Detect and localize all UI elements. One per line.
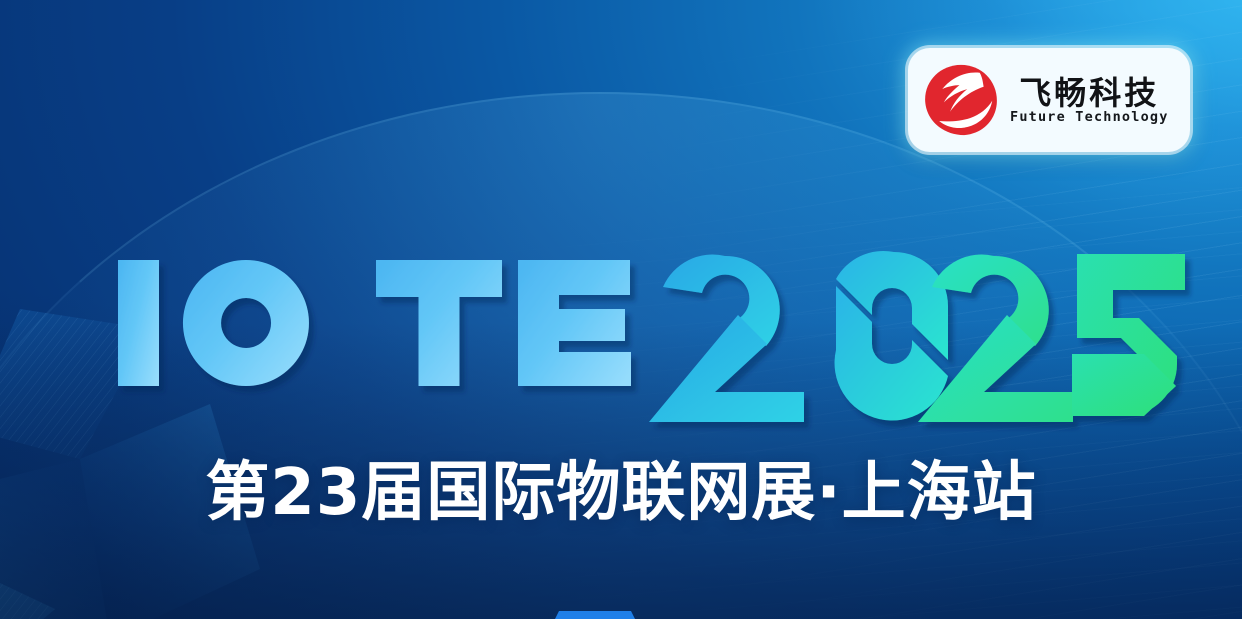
digit-0 <box>835 251 948 421</box>
digit-2-first <box>649 255 804 422</box>
event-subtitle: 第23届国际物联网展·上海站 <box>0 458 1242 530</box>
logo-company-name-cn: 飞畅科技 <box>1019 77 1159 109</box>
headline-iote-2025 <box>112 246 1092 398</box>
iote-2025-banner: 飞畅科技 Future Technology <box>0 0 1242 619</box>
headline-artwork <box>112 246 1092 398</box>
bottom-page-tab[interactable] <box>555 611 635 619</box>
headline-word-iote <box>118 260 631 386</box>
logo-company-name-en: Future Technology <box>1010 111 1169 125</box>
headline-year-2025 <box>649 251 1185 422</box>
feichang-globe-icon <box>922 63 1000 137</box>
company-logo-card[interactable]: 飞畅科技 Future Technology <box>908 48 1190 152</box>
